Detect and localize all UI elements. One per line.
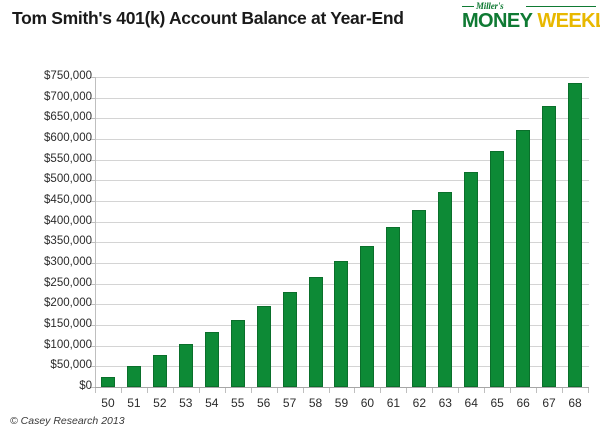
x-tick-mark [303, 388, 304, 393]
x-tick-mark [251, 388, 252, 393]
logo-rule-left-icon [462, 6, 474, 7]
bar-slot [95, 77, 121, 388]
x-tick-mark [173, 388, 174, 393]
bar[interactable] [283, 292, 297, 387]
bar[interactable] [257, 306, 271, 387]
bar[interactable] [516, 130, 530, 388]
bar-slot [484, 77, 510, 388]
bar[interactable] [542, 106, 556, 387]
x-tick-mark [95, 388, 96, 393]
x-tick-mark [458, 388, 459, 393]
x-tick-mark [329, 388, 330, 393]
y-tick-label: $50,000 [50, 360, 92, 371]
bar[interactable] [438, 192, 452, 388]
bar-slot [303, 77, 329, 388]
x-tick-label: 55 [225, 396, 251, 410]
bar[interactable] [231, 320, 245, 387]
x-tick-label: 65 [484, 396, 510, 410]
copyright-notice: © Casey Research 2013 [10, 415, 125, 427]
x-tick-label: 67 [536, 396, 562, 410]
y-tick-label: $250,000 [44, 278, 92, 289]
x-tick-mark [562, 388, 563, 393]
bar[interactable] [101, 377, 115, 387]
x-tick-label: 51 [121, 396, 147, 410]
x-tick-label: 60 [354, 396, 380, 410]
bar[interactable] [179, 344, 193, 387]
bar[interactable] [464, 172, 478, 387]
logo-wordmark: MONEYWEEKLY [462, 10, 596, 32]
chart-header: Tom Smith's 401(k) Account Balance at Ye… [0, 0, 600, 40]
x-tick-label: 53 [173, 396, 199, 410]
logo-word-weekly: WEEKLY [537, 10, 600, 32]
bar-slot [277, 77, 303, 388]
x-tick-label: 57 [277, 396, 303, 410]
logo-rule-right-icon [526, 6, 596, 7]
y-tick-label: $100,000 [44, 340, 92, 351]
page-title: Tom Smith's 401(k) Account Balance at Ye… [12, 8, 404, 29]
x-tick-mark [536, 388, 537, 393]
bar-chart: $750,000$700,000$650,000$600,000$550,000… [0, 40, 600, 400]
x-tick-label: 61 [380, 396, 406, 410]
x-tick-mark [354, 388, 355, 393]
y-tick-label: $500,000 [44, 174, 92, 185]
y-tick-label: $750,000 [44, 71, 92, 82]
bar-slot [121, 77, 147, 388]
bar-slot [173, 77, 199, 388]
y-tick-label: $600,000 [44, 133, 92, 144]
bar[interactable] [205, 332, 219, 387]
x-tick-mark [380, 388, 381, 393]
bar-slot [147, 77, 173, 388]
x-tick-mark [225, 388, 226, 393]
bar-slot [562, 77, 588, 388]
logo-word-money: MONEY [462, 10, 532, 32]
y-tick-label: $0 [79, 381, 92, 392]
x-tick-label: 52 [147, 396, 173, 410]
x-tick-mark [406, 388, 407, 393]
bar[interactable] [360, 246, 374, 387]
bar[interactable] [309, 277, 323, 387]
bar[interactable] [386, 227, 400, 387]
bar[interactable] [490, 151, 504, 387]
y-tick-label: $550,000 [44, 154, 92, 165]
x-tick-mark [510, 388, 511, 393]
bar-slot [380, 77, 406, 388]
bar-slot [458, 77, 484, 388]
money-weekly-logo: Miller's MONEYWEEKLY [462, 1, 596, 33]
x-tick-label: 56 [251, 396, 277, 410]
x-tick-mark [432, 388, 433, 393]
y-tick-label: $300,000 [44, 257, 92, 268]
x-tick-label: 58 [303, 396, 329, 410]
bar-slot [225, 77, 251, 388]
x-tick-label: 50 [95, 396, 121, 410]
y-tick-label: $200,000 [44, 298, 92, 309]
y-tick-label: $700,000 [44, 92, 92, 103]
x-tick-label: 64 [458, 396, 484, 410]
x-tick-mark [484, 388, 485, 393]
y-tick-label: $450,000 [44, 195, 92, 206]
x-tick-label: 54 [199, 396, 225, 410]
y-tick-label: $150,000 [44, 319, 92, 330]
x-axis-line [95, 387, 588, 388]
x-tick-label: 59 [329, 396, 355, 410]
x-tick-mark [588, 388, 589, 393]
x-tick-label: 66 [510, 396, 536, 410]
bar-slot [536, 77, 562, 388]
bar[interactable] [412, 210, 426, 387]
bar-slot [199, 77, 225, 388]
bar[interactable] [568, 83, 582, 387]
x-tick-mark [199, 388, 200, 393]
bar[interactable] [334, 261, 348, 387]
y-tick-label: $400,000 [44, 216, 92, 227]
bar-slot [406, 77, 432, 388]
x-tick-mark [147, 388, 148, 393]
bar[interactable] [153, 355, 167, 387]
x-tick-label: 68 [562, 396, 588, 410]
y-tick-label: $350,000 [44, 236, 92, 247]
x-tick-label: 62 [406, 396, 432, 410]
bar-slot [329, 77, 355, 388]
x-tick-label: 63 [432, 396, 458, 410]
bar[interactable] [127, 366, 141, 387]
x-tick-mark [121, 388, 122, 393]
bar-slot [354, 77, 380, 388]
y-tick-label: $650,000 [44, 112, 92, 123]
x-tick-mark [277, 388, 278, 393]
bar-series [95, 77, 588, 388]
bar-slot [432, 77, 458, 388]
bar-slot [251, 77, 277, 388]
bar-slot [510, 77, 536, 388]
